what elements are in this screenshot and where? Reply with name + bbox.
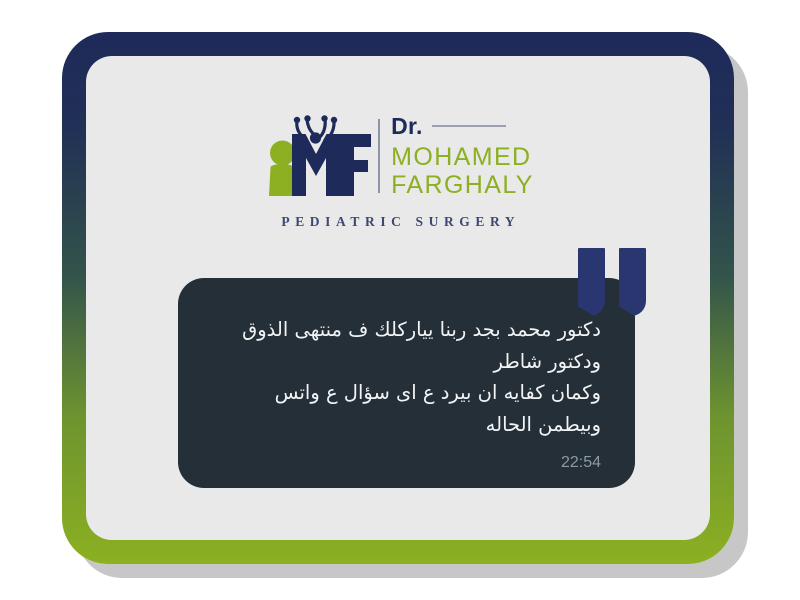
testimonial-card: Dr. MOHAMED FARGHALY PEDIATRIC SURGERY د… [86,56,710,540]
quote-bar-left [578,248,605,300]
testimonial-screenshot: Dr. MOHAMED FARGHALY PEDIATRIC SURGERY د… [0,0,800,600]
logo-rule [432,125,506,127]
clinic-logo: Dr. MOHAMED FARGHALY PEDIATRIC SURGERY [86,110,710,230]
logo-wordmark: Dr. MOHAMED FARGHALY [391,115,534,198]
quote-bar-right [619,248,646,300]
logo-prefix: Dr. [391,115,423,138]
quotation-mark-icon [578,248,646,300]
gradient-frame: Dr. MOHAMED FARGHALY PEDIATRIC SURGERY د… [62,32,734,564]
logo-first-name: MOHAMED [391,145,534,170]
logo-prefix-row: Dr. [391,115,534,138]
logo-last-name: FARGHALY [391,173,534,198]
logo-lockup: Dr. MOHAMED FARGHALY [262,110,534,202]
logo-tagline: PEDIATRIC SURGERY [276,214,520,230]
testimonial-bubble: دكتور محمد بجد ربنا يياركلك ف منتهى الذو… [178,278,635,488]
message-timestamp: 22:54 [212,454,601,472]
mf-monogram-icon [262,110,374,202]
testimonial-message: دكتور محمد بجد ربنا يياركلك ف منتهى الذو… [212,314,601,440]
logo-divider [378,119,380,193]
